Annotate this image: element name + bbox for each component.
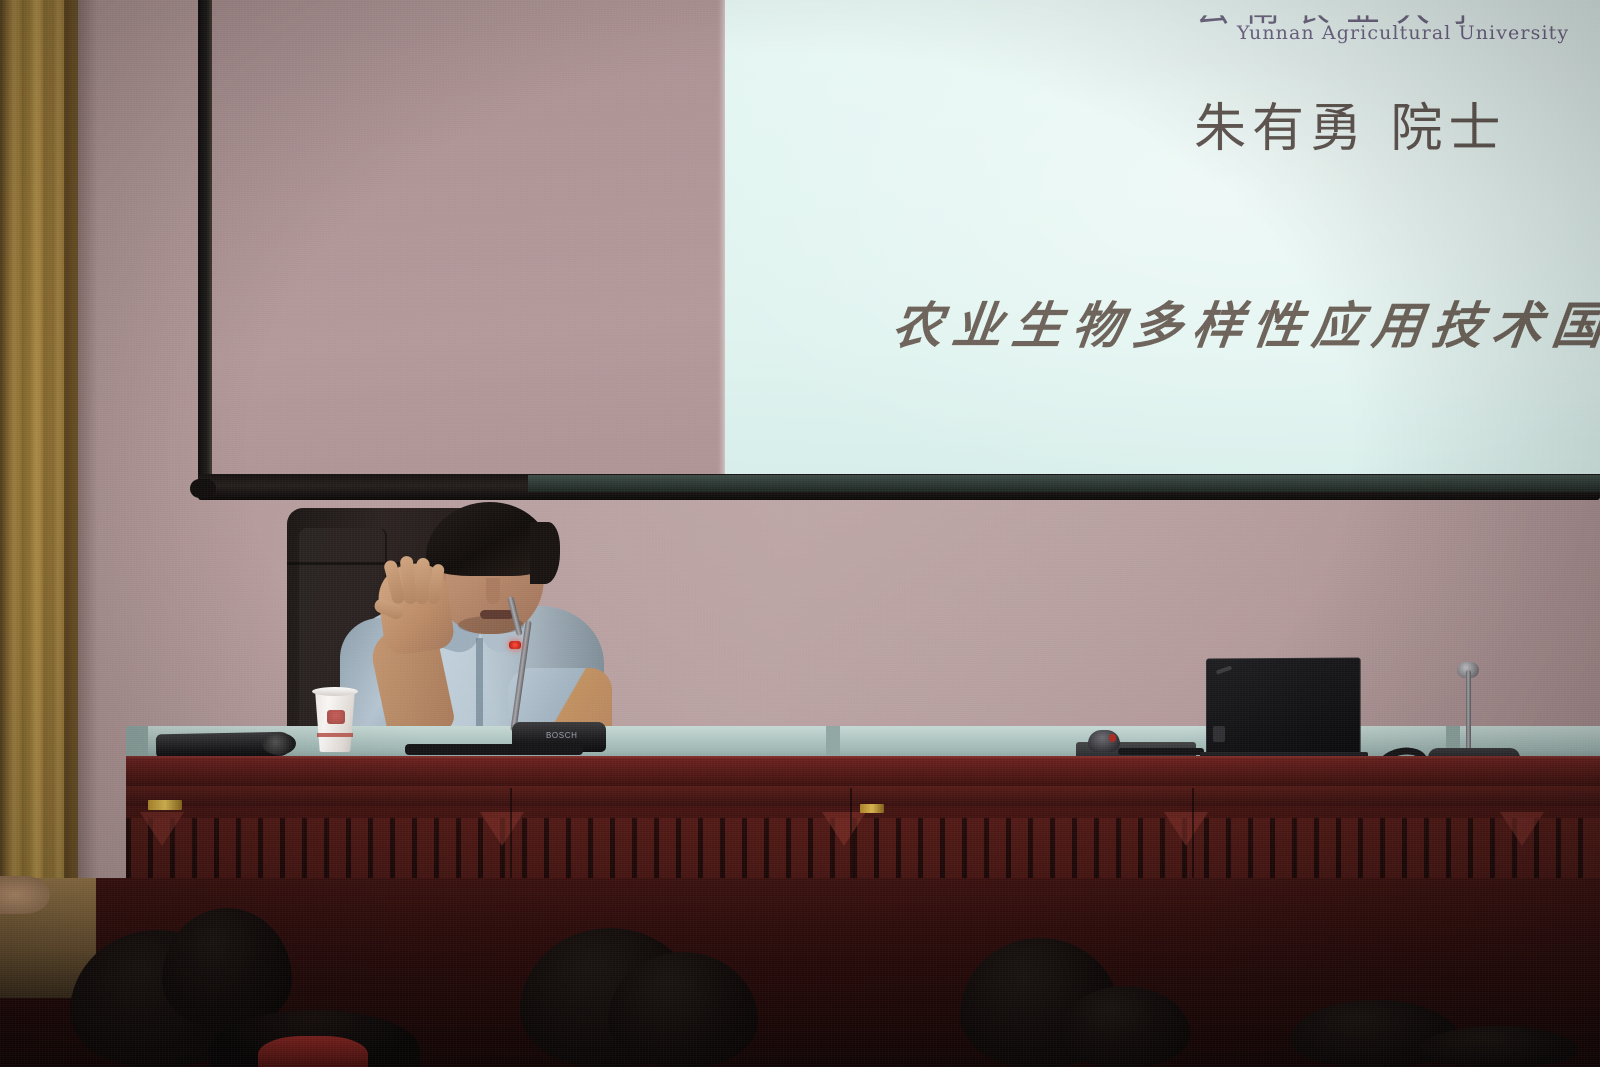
screen-left-frame [198, 0, 213, 491]
paper-cup-logo [327, 710, 345, 724]
desk-cable-left [405, 744, 583, 755]
slide-university-name-en: Yunnan Agricultural University [1237, 22, 1569, 44]
desk-triangle-accent-4 [1164, 812, 1208, 846]
paper-cup-rim [312, 687, 358, 696]
desk-triangle-accent-1 [140, 812, 184, 846]
desk-triangle-accent-5 [1500, 812, 1544, 846]
desk-front-rail [126, 786, 1600, 806]
second-microphone-stem [1466, 670, 1471, 754]
projector-glow [725, 0, 1600, 479]
audience-red-shirt [258, 1036, 368, 1067]
mouse-cable [1118, 748, 1204, 755]
desk-nameplate-left [148, 800, 182, 810]
curtain-shadow [64, 0, 98, 905]
handheld-wireless-microphone [156, 732, 292, 759]
audience-head-8 [1418, 1026, 1578, 1067]
speaker-hair [426, 502, 552, 576]
projection-screen [198, 0, 1600, 508]
desk-triangle-accent-2 [480, 812, 524, 846]
desk-nameplate-right [860, 804, 884, 813]
audience-partial-head-left [0, 876, 50, 914]
slide-speaker-name: 朱有勇 院士 [1194, 86, 1507, 161]
desk-top-edge [126, 756, 1600, 790]
microphone-led-indicator [509, 641, 521, 649]
speaker-nose [486, 578, 500, 604]
projected-slide [725, 0, 1600, 479]
laptop-screen-lid [1206, 657, 1361, 758]
microphone-brand-label: BOSCH [546, 731, 577, 740]
computer-mouse [1088, 730, 1120, 752]
slide-calligraphy-title: 农业生物多样性应用技术国 [889, 286, 1600, 358]
paper-cup-band [317, 733, 353, 737]
desk-triangle-accent-3 [822, 812, 866, 846]
lecture-hall-photo: 云南农业大学 Yunnan Agricultural University 朱有… [0, 0, 1600, 1067]
laptop-badge [1213, 726, 1225, 742]
screen-bottom-weight-bar [198, 474, 1600, 500]
